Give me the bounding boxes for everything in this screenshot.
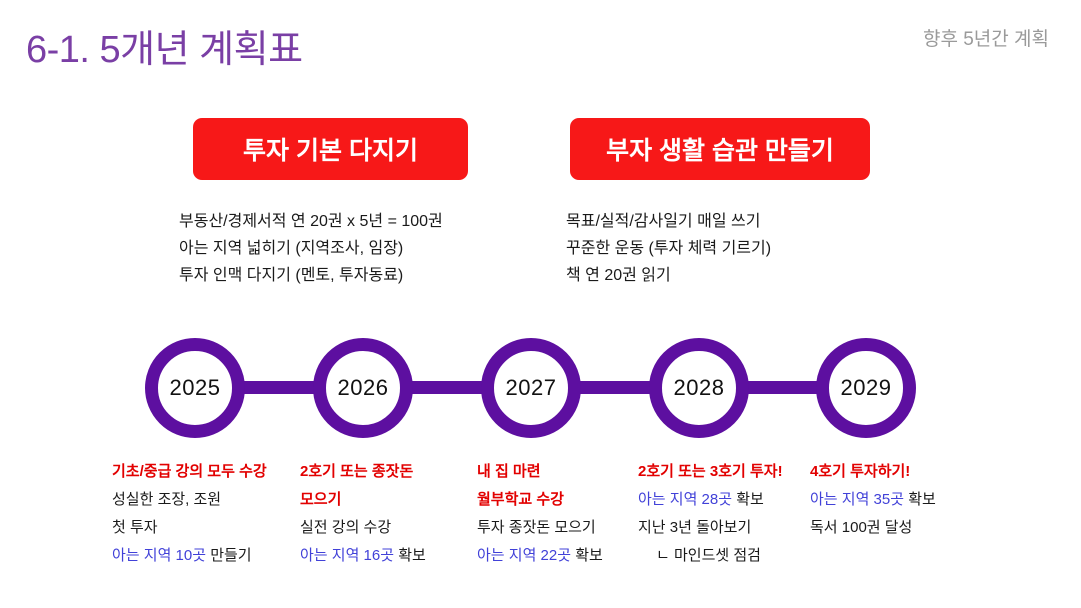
pillar-bullet: 투자 인맥 다지기 (멘토, 투자동료) [179,262,443,289]
detail-column-2027: 내 집 마련월부학교 수강투자 종잣돈 모으기아는 지역 22곳 확보 [477,458,603,570]
pillar-bullets-investment-basics: 부동산/경제서적 연 20권 x 5년 = 100권아는 지역 넓히기 (지역조… [179,208,443,289]
timeline-year-label: 2027 [506,375,557,401]
detail-line-highlight: 기초/중급 강의 모두 수강 [112,458,267,486]
region-count-suffix: 확보 [394,547,426,564]
detail-line-highlight: 모으기 [300,486,426,514]
detail-line-highlight: 월부학교 수강 [477,486,603,514]
region-count-emphasis: 아는 지역 28곳 [638,491,732,508]
pillar-bullet: 목표/실적/감사일기 매일 쓰기 [566,208,771,235]
timeline-node-2028[interactable]: 2028 [649,338,749,438]
region-count-emphasis: 아는 지역 16곳 [300,547,394,564]
detail-line-region-count: 아는 지역 16곳 확보 [300,542,426,570]
detail-line-region-count: 아는 지역 28곳 확보 [638,486,783,514]
detail-line: 투자 종잣돈 모으기 [477,514,603,542]
detail-line-region-count: 아는 지역 22곳 확보 [477,542,603,570]
timeline-connector [241,381,317,394]
region-count-suffix: 만들기 [206,547,252,564]
pillar-bullet: 부동산/경제서적 연 20권 x 5년 = 100권 [179,208,443,235]
slide-canvas: 6-1. 5개년 계획표 향후 5년간 계획 투자 기본 다지기 부자 생활 습… [0,0,1081,608]
timeline-connector [409,381,485,394]
detail-line-highlight: 내 집 마련 [477,458,603,486]
detail-line-sub: ㄴ 마인드셋 점검 [638,542,783,570]
detail-column-2026: 2호기 또는 종잣돈모으기실전 강의 수강아는 지역 16곳 확보 [300,458,426,570]
timeline-node-2025[interactable]: 2025 [145,338,245,438]
detail-line-region-count: 아는 지역 35곳 확보 [810,486,936,514]
region-count-suffix: 확보 [904,491,936,508]
detail-column-2028: 2호기 또는 3호기 투자!아는 지역 28곳 확보지난 3년 돌아보기ㄴ 마인… [638,458,783,570]
detail-line-region-count: 아는 지역 10곳 만들기 [112,542,267,570]
region-count-emphasis: 아는 지역 10곳 [112,547,206,564]
timeline-connector [745,381,820,394]
timeline-year-label: 2028 [674,375,725,401]
detail-line: 첫 투자 [112,514,267,542]
region-count-emphasis: 아는 지역 35곳 [810,491,904,508]
timeline-node-2029[interactable]: 2029 [816,338,916,438]
timeline: 20252026202720282029 [0,322,1081,454]
detail-line-highlight: 4호기 투자하기! [810,458,936,486]
detail-line: 독서 100권 달성 [810,514,936,542]
timeline-year-label: 2026 [338,375,389,401]
detail-line-highlight: 2호기 또는 3호기 투자! [638,458,783,486]
pillar-bullet: 책 연 20권 읽기 [566,262,771,289]
detail-line: 지난 3년 돌아보기 [638,514,783,542]
pillar-bullet: 꾸준한 운동 (투자 체력 기르기) [566,235,771,262]
slide-subtitle: 향후 5년간 계획 [923,24,1049,51]
detail-line: 실전 강의 수강 [300,514,426,542]
detail-line: 성실한 조장, 조원 [112,486,267,514]
pillar-bullets-rich-habits: 목표/실적/감사일기 매일 쓰기꾸준한 운동 (투자 체력 기르기)책 연 20… [566,208,771,289]
timeline-node-2026[interactable]: 2026 [313,338,413,438]
timeline-connector [577,381,653,394]
pillar-heading-rich-habits: 부자 생활 습관 만들기 [570,118,870,180]
page-title: 6-1. 5개년 계획표 [26,18,303,73]
region-count-suffix: 확보 [571,547,603,564]
detail-column-2029: 4호기 투자하기!아는 지역 35곳 확보독서 100권 달성 [810,458,936,542]
pillar-heading-investment-basics: 투자 기본 다지기 [193,118,468,180]
timeline-year-label: 2025 [170,375,221,401]
pillar-bullet: 아는 지역 넓히기 (지역조사, 임장) [179,235,443,262]
timeline-year-label: 2029 [841,375,892,401]
region-count-emphasis: 아는 지역 22곳 [477,547,571,564]
region-count-suffix: 확보 [732,491,764,508]
timeline-node-2027[interactable]: 2027 [481,338,581,438]
detail-line-highlight: 2호기 또는 종잣돈 [300,458,426,486]
detail-column-2025: 기초/중급 강의 모두 수강성실한 조장, 조원첫 투자아는 지역 10곳 만들… [112,458,267,570]
